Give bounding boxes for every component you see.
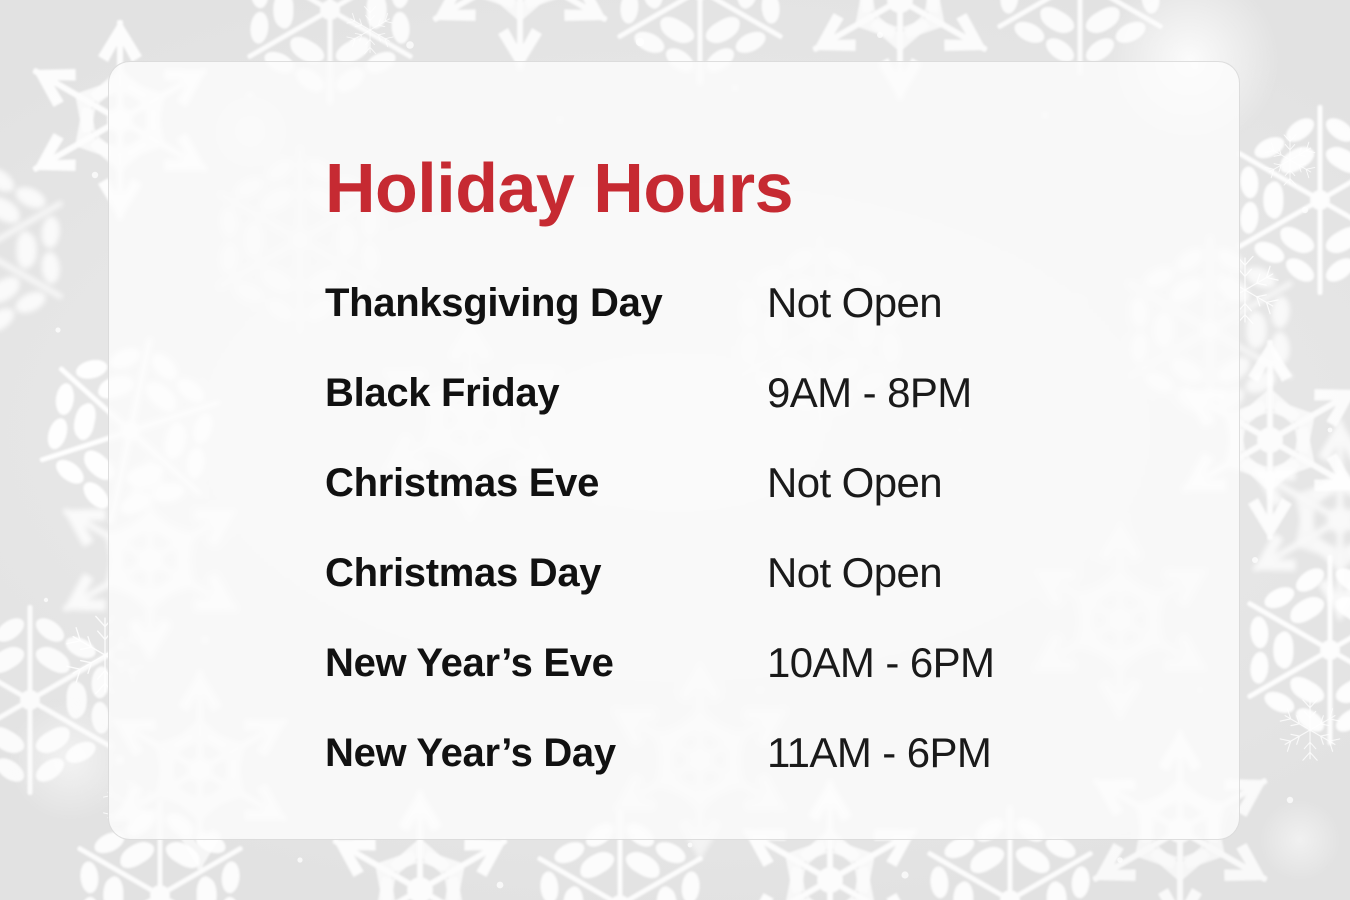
holiday-hours-value: 10AM - 6PM xyxy=(767,618,994,708)
holiday-hours-value: Not Open xyxy=(767,258,994,348)
holiday-name: Christmas Eve xyxy=(325,438,767,528)
page-title: Holiday Hours xyxy=(325,153,793,223)
holiday-hours-rows: Thanksgiving Day Not Open Black Friday 9… xyxy=(325,258,994,798)
holiday-name: New Year’s Day xyxy=(325,708,767,798)
holiday-hours-table: Thanksgiving Day Not Open Black Friday 9… xyxy=(325,258,994,798)
holiday-name: Black Friday xyxy=(325,348,767,438)
holiday-hours-graphic: Holiday Hours Thanksgiving Day Not Open … xyxy=(0,0,1350,900)
holiday-hours-value: 9AM - 8PM xyxy=(767,348,994,438)
table-row: Thanksgiving Day Not Open xyxy=(325,258,994,348)
holiday-name: Christmas Day xyxy=(325,528,767,618)
holiday-hours-value: Not Open xyxy=(767,528,994,618)
table-row: Black Friday 9AM - 8PM xyxy=(325,348,994,438)
table-row: New Year’s Day 11AM - 6PM xyxy=(325,708,994,798)
table-row: Christmas Eve Not Open xyxy=(325,438,994,528)
table-row: Christmas Day Not Open xyxy=(325,528,994,618)
holiday-hours-value: Not Open xyxy=(767,438,994,528)
holiday-hours-card: Holiday Hours Thanksgiving Day Not Open … xyxy=(108,61,1240,840)
card-content: Holiday Hours Thanksgiving Day Not Open … xyxy=(325,62,1239,839)
holiday-name: Thanksgiving Day xyxy=(325,258,767,348)
table-row: New Year’s Eve 10AM - 6PM xyxy=(325,618,994,708)
holiday-name: New Year’s Eve xyxy=(325,618,767,708)
holiday-hours-value: 11AM - 6PM xyxy=(767,708,994,798)
